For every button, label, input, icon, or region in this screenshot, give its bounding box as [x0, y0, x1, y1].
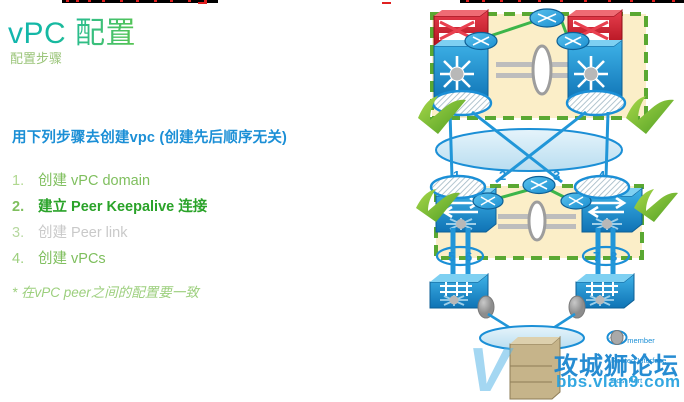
list-item: 4. 创建 vPCs [12, 246, 342, 272]
legend-item-routed-interface: Routed Interface [606, 350, 684, 370]
step-label: 创建 vPC domain [38, 168, 150, 194]
gray-circle-icon [606, 330, 628, 345]
list-item: 2. 建立 Peer Keepalive 连接 [12, 194, 342, 220]
router-upper-center [530, 9, 564, 27]
host-port-right [569, 296, 585, 318]
page-subtitle: 配置步骤 [10, 48, 62, 67]
legend-item-host-port: Host Port [606, 370, 684, 390]
list-item: 3. 创建 Peer link [12, 220, 342, 246]
link-label-5: 5 [448, 249, 455, 264]
legend-label: Host Port [611, 376, 642, 385]
link-label-2: 2 [499, 168, 506, 183]
router-upper-left [465, 33, 497, 50]
network-diagram: 1 2 3 4 [410, 0, 684, 402]
link-label-3: 3 [553, 168, 560, 183]
link-label-7: 7 [593, 249, 600, 264]
crop-artifact-left [62, 0, 218, 3]
step-number: 3. [12, 220, 38, 246]
slide-canvas: vPC 配置 配置步骤 用下列步骤去创建vpc (创建先后顺序无关) 1. 创建… [0, 0, 684, 402]
switch-upper-right [568, 10, 622, 102]
page-title: vPC 配置 [8, 8, 136, 52]
crop-artifact-dash [198, 2, 207, 4]
step-label: 创建 Peer link [38, 220, 127, 246]
lead-heading: 用下列步骤去创建vpc (创建先后顺序无关) [12, 126, 287, 147]
legend-label: Routed Interface [611, 356, 666, 365]
diagram-legend: vPC member Routed Interface Host Port [606, 330, 684, 390]
steps-list: 1. 创建 vPC domain 2. 建立 Peer Keepalive 连接… [12, 168, 342, 272]
l2-cloud [436, 129, 622, 171]
link-label-8: 8 [610, 249, 617, 264]
router-lower-center [523, 177, 555, 194]
footnote: * 在vPC peer之间的配置要一致 [12, 281, 199, 301]
switch-upper-left [434, 10, 488, 102]
step-number: 1. [12, 168, 38, 194]
vpc-member-lower-right-top [575, 176, 629, 198]
step-label: 创建 vPCs [38, 246, 106, 272]
server-host [510, 337, 560, 399]
router-upper-right [557, 33, 589, 50]
step-number: 2. [12, 194, 38, 220]
step-number: 4. [12, 246, 38, 272]
link-label-6: 6 [465, 249, 472, 264]
vpc-member-upper-right [567, 91, 625, 115]
list-item: 1. 创建 vPC domain [12, 168, 342, 194]
crop-artifact-dash-2 [382, 2, 391, 4]
step-label: 建立 Peer Keepalive 连接 [38, 194, 207, 220]
host-port-left [478, 296, 494, 318]
